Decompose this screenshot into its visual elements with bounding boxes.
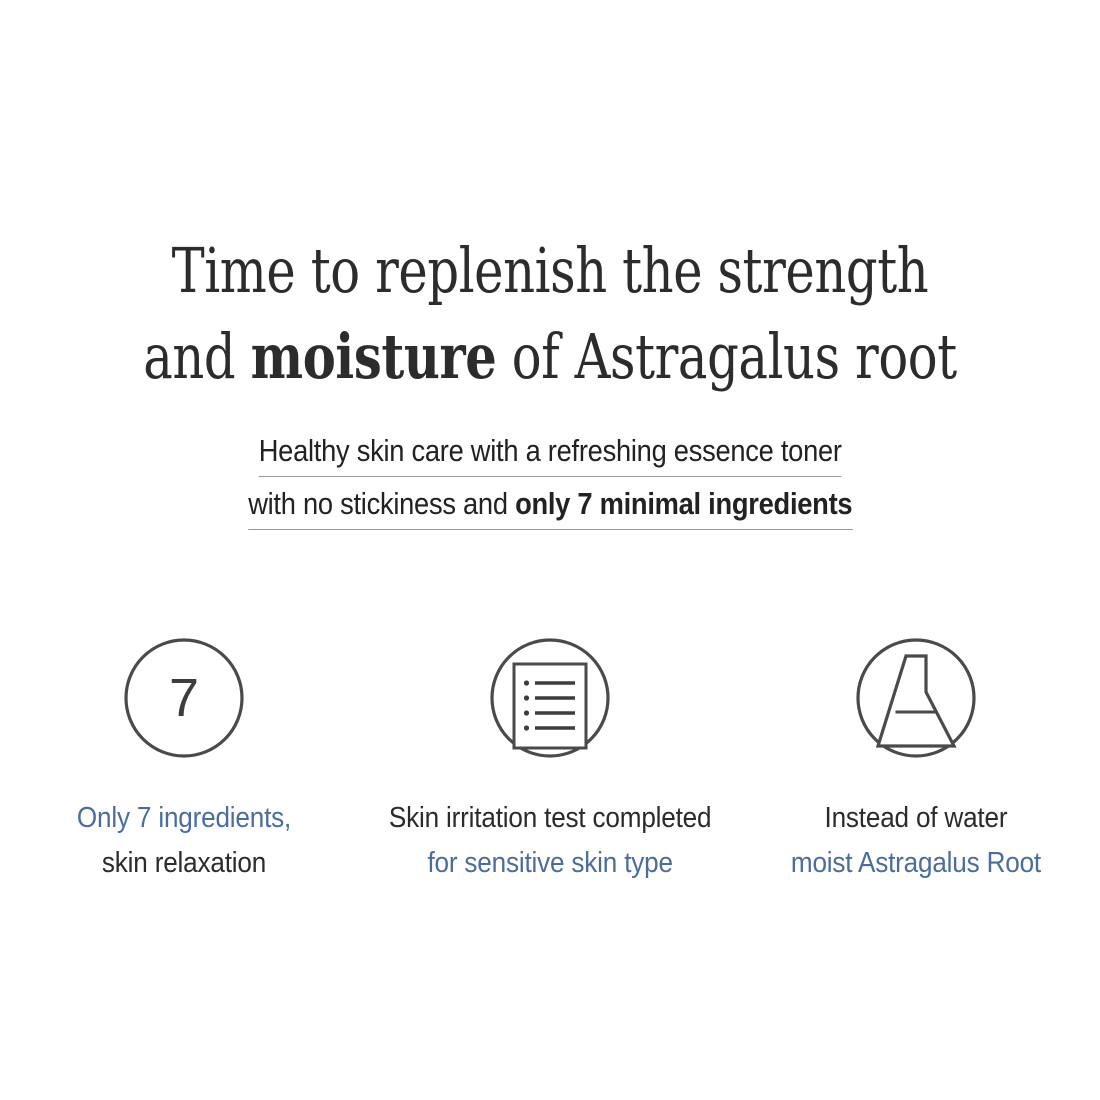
subtitle: Healthy skin care with a refreshing esse… xyxy=(0,428,1100,534)
circle-number-seven-icon: 7 xyxy=(122,636,246,760)
circle-erlenmeyer-flask-icon xyxy=(854,636,978,760)
subtitle-line-2: with no stickiness and only 7 minimal in… xyxy=(248,481,852,530)
feature-caption-line-1: Instead of water xyxy=(791,796,1041,841)
feature-caption-line-1: Only 7 ingredients, xyxy=(77,796,291,841)
product-feature-panel: Time to replenish the strength and moist… xyxy=(0,0,1100,1100)
circle-document-checklist-icon xyxy=(488,636,612,760)
seven-glyph: 7 xyxy=(169,668,199,728)
feature-item-astragalus-water: Instead of water moist Astragalus Root xyxy=(733,636,1099,886)
page-title: Time to replenish the strength and moist… xyxy=(110,228,990,400)
feature-list: 7 Only 7 ingredients, skin relaxation xyxy=(0,636,1100,886)
feature-caption-line-2: moist Astragalus Root xyxy=(791,841,1041,886)
headline-line-2-prefix: and xyxy=(143,320,250,393)
headline-line-1: Time to replenish the strength xyxy=(110,228,990,314)
feature-caption-line-1: Skin irritation test completed xyxy=(389,796,711,841)
headline-line-2: and moisture of Astragalus root xyxy=(110,314,990,400)
feature-caption-irritation-test: Skin irritation test completed for sensi… xyxy=(389,796,711,886)
feature-caption-line-2: skin relaxation xyxy=(77,841,291,886)
subtitle-row-2: with no stickiness and only 7 minimal in… xyxy=(0,481,1100,530)
feature-caption-ingredients: Only 7 ingredients, skin relaxation xyxy=(77,796,291,886)
feature-caption-astragalus-water: Instead of water moist Astragalus Root xyxy=(791,796,1041,886)
subtitle-line-2-prefix: with no stickiness and xyxy=(248,486,515,521)
subtitle-line-1: Healthy skin care with a refreshing esse… xyxy=(258,428,841,477)
feature-caption-line-2: for sensitive skin type xyxy=(389,841,711,886)
headline-line-2-suffix: of Astragalus root xyxy=(496,320,956,393)
headline-emphasis-moisture: moisture xyxy=(251,320,497,393)
feature-item-ingredients: 7 Only 7 ingredients, skin relaxation xyxy=(1,636,367,886)
feature-item-irritation-test: Skin irritation test completed for sensi… xyxy=(367,636,733,886)
subtitle-row-1: Healthy skin care with a refreshing esse… xyxy=(0,428,1100,477)
subtitle-emphasis-ingredients: only 7 minimal ingredients xyxy=(515,486,852,521)
